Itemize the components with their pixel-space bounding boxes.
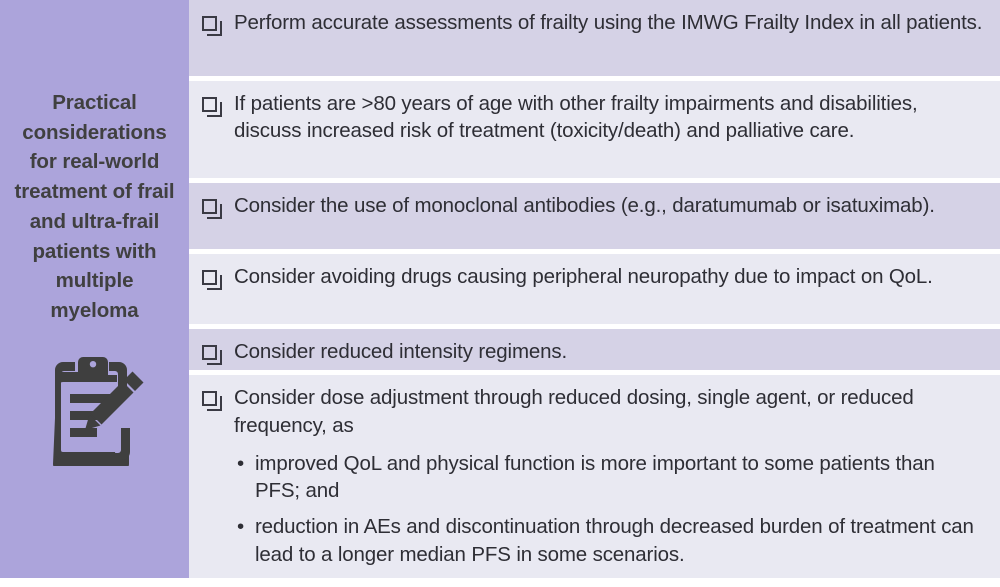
checklist-row-text: Consider dose adjustment through reduced… — [234, 384, 984, 439]
bullet-icon: • — [234, 513, 255, 540]
checklist-row-body: Consider avoiding drugs causing peripher… — [234, 263, 984, 290]
checklist-row-text: Consider avoiding drugs causing peripher… — [234, 263, 984, 290]
checklist-row[interactable]: Consider reduced intensity regimens. — [189, 324, 1000, 370]
checklist-row[interactable]: If patients are >80 years of age with ot… — [189, 76, 1000, 178]
sub-bullet-text: reduction in AEs and discontinuation thr… — [255, 513, 984, 568]
checkbox-empty-icon[interactable] — [202, 338, 234, 360]
page-title: Practical considerations for real-world … — [15, 88, 175, 326]
left-title-panel: Practical considerations for real-world … — [0, 0, 189, 578]
sub-bullet-text: improved QoL and physical function is mo… — [255, 450, 984, 505]
slide-root: Practical considerations for real-world … — [0, 0, 1000, 587]
checklist-row-body: If patients are >80 years of age with ot… — [234, 90, 984, 145]
checklist-row-text: Consider reduced intensity regimens. — [234, 338, 984, 365]
checklist-row[interactable]: Consider the use of monoclonal antibodie… — [189, 178, 1000, 249]
checklist-row-body: Perform accurate assessments of frailty … — [234, 9, 984, 36]
checklist-row[interactable]: Consider dose adjustment through reduced… — [189, 370, 1000, 578]
checklist-rows: Perform accurate assessments of frailty … — [189, 0, 1000, 578]
bullet-icon: • — [234, 450, 255, 477]
list-item: • improved QoL and physical function is … — [234, 450, 984, 505]
checklist-row-text: If patients are >80 years of age with ot… — [234, 90, 984, 145]
checklist-row-body: Consider reduced intensity regimens. — [234, 338, 984, 365]
checklist-row[interactable]: Consider avoiding drugs causing peripher… — [189, 249, 1000, 325]
checkbox-empty-icon[interactable] — [202, 192, 234, 214]
checkbox-empty-icon[interactable] — [202, 9, 234, 31]
checklist-row-text: Perform accurate assessments of frailty … — [234, 9, 984, 36]
checkbox-empty-icon[interactable] — [202, 263, 234, 285]
checklist-row-body: Consider dose adjustment through reduced… — [234, 384, 984, 568]
checklist-row-text: Consider the use of monoclonal antibodie… — [234, 192, 984, 219]
clipboard-pencil-icon — [39, 354, 151, 466]
checklist-row-body: Consider the use of monoclonal antibodie… — [234, 192, 984, 219]
bottom-white-strip — [0, 578, 1000, 587]
checklist-row[interactable]: Perform accurate assessments of frailty … — [189, 0, 1000, 76]
sub-bullet-list: • improved QoL and physical function is … — [234, 450, 984, 568]
checkbox-empty-icon[interactable] — [202, 90, 234, 112]
checkbox-empty-icon[interactable] — [202, 384, 234, 406]
list-item: • reduction in AEs and discontinuation t… — [234, 513, 984, 568]
